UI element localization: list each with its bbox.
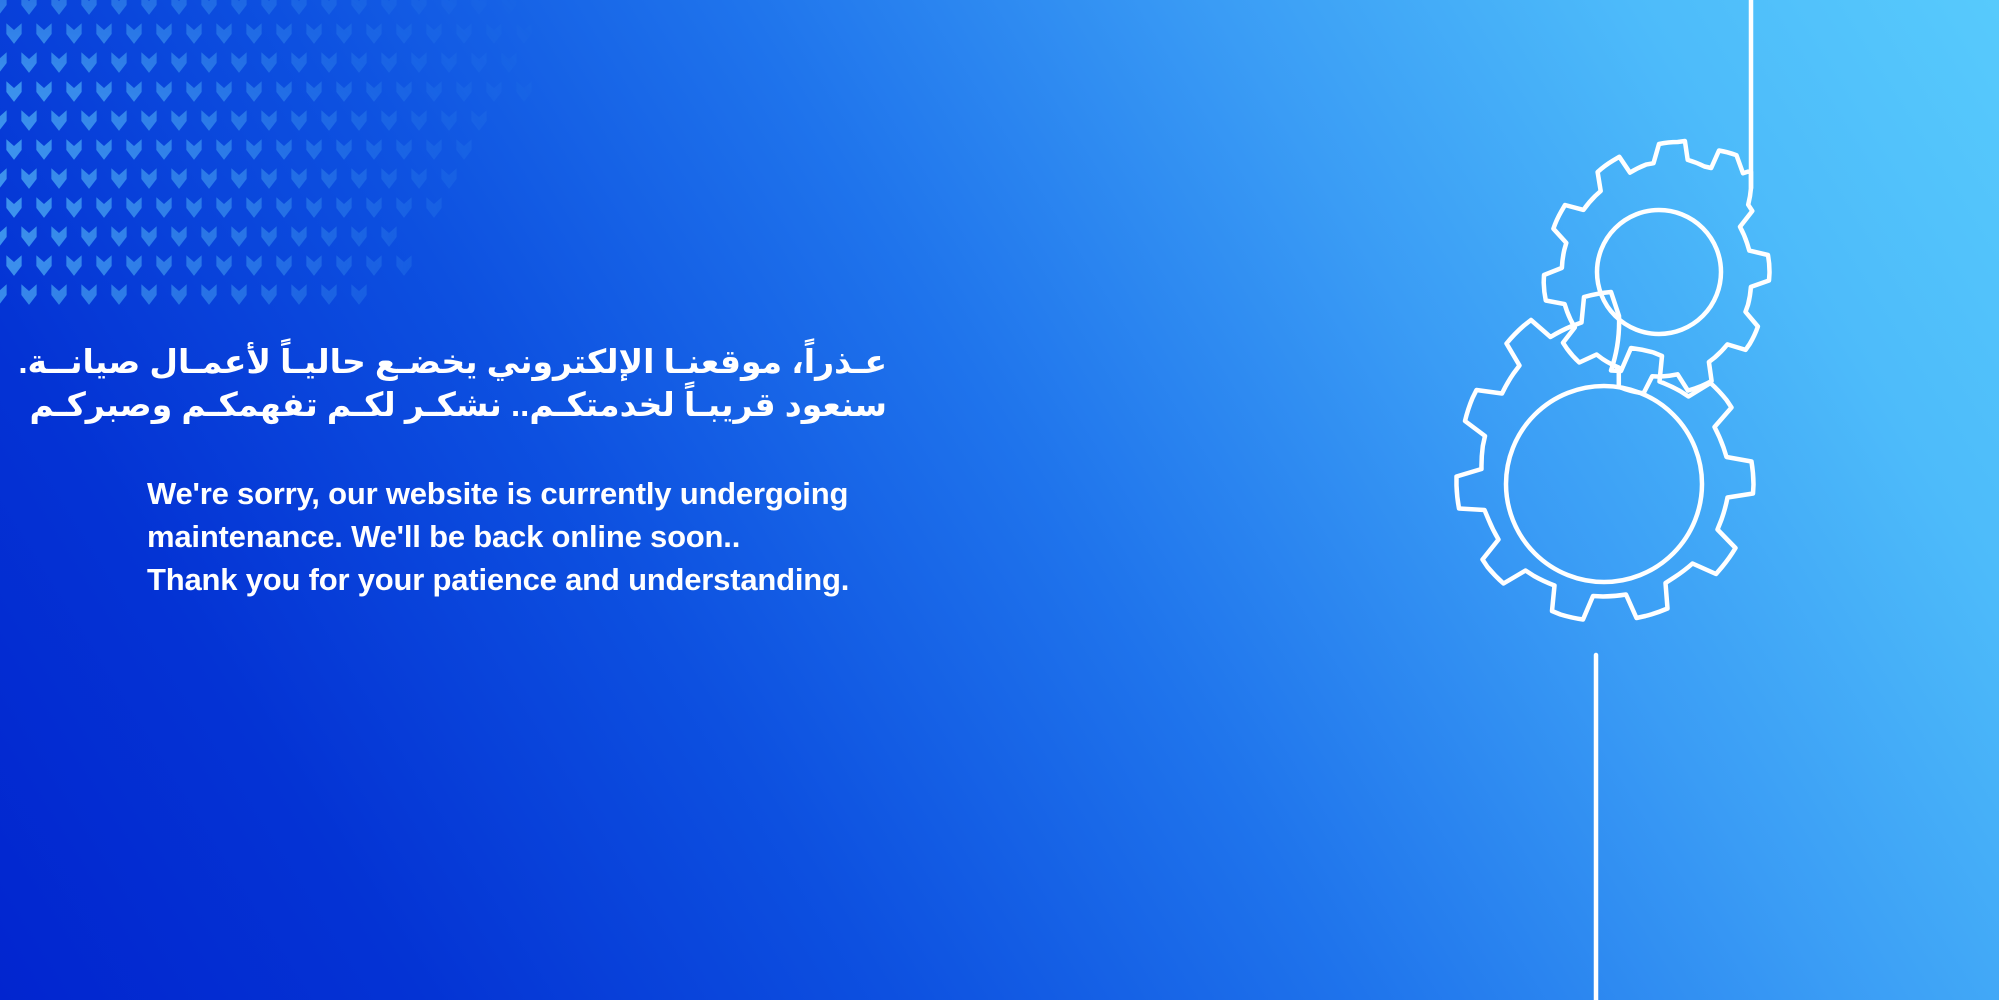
english-line-1: We're sorry, our website is currently un… bbox=[147, 472, 1087, 515]
gear-illustration bbox=[1099, 0, 1999, 1000]
arabic-line-1: عـذراً، موقعنـا الإلكتروني يخضـع حاليـاً… bbox=[147, 340, 887, 383]
large-gear bbox=[1457, 292, 1754, 620]
english-message: We're sorry, our website is currently un… bbox=[147, 472, 1087, 601]
small-gear bbox=[1544, 141, 1770, 393]
english-line-2: maintenance. We'll be back online soon.. bbox=[147, 515, 1087, 558]
arabic-message: عـذراً، موقعنـا الإلكتروني يخضـع حاليـاً… bbox=[147, 340, 887, 426]
small-gear-hub bbox=[1597, 210, 1721, 334]
arabic-line-2: سنعود قريبـاً لخدمتكـم.. نشكـر لكـم تفهم… bbox=[147, 383, 887, 426]
maintenance-page: عـذراً، موقعنـا الإلكتروني يخضـع حاليـاً… bbox=[0, 0, 1999, 1000]
large-gear-hub bbox=[1506, 386, 1702, 582]
message-block: عـذراً، موقعنـا الإلكتروني يخضـع حاليـاً… bbox=[147, 340, 1087, 601]
english-line-3: Thank you for your patience and understa… bbox=[147, 558, 1087, 601]
